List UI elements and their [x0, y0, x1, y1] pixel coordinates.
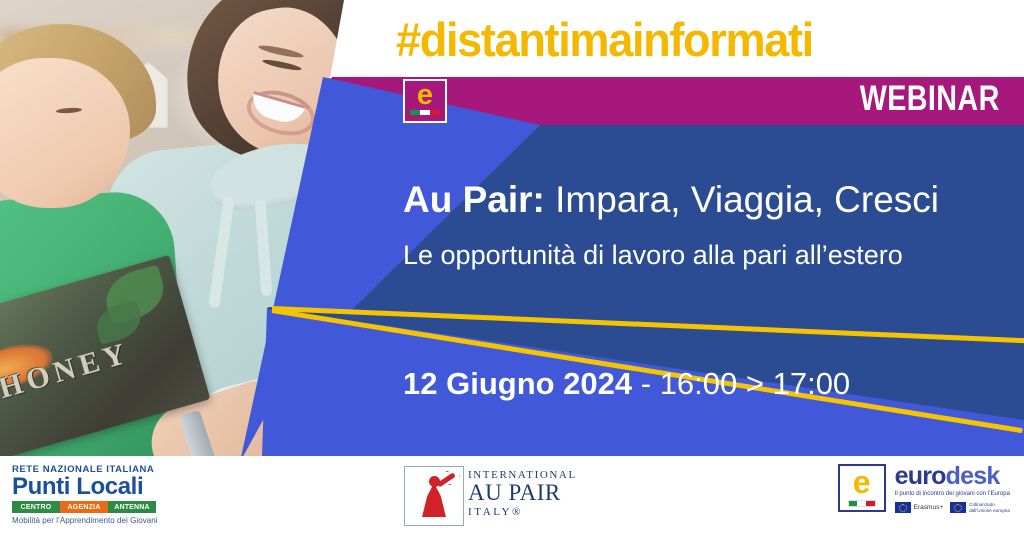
eurodesk-tagline: Il punto di incontro dei giovani con l’E…: [895, 491, 1010, 497]
eurodesk-footer-letter: e: [853, 469, 871, 496]
punti-locali-tagline: Mobilità per l’Apprendimento dei Giovani: [12, 516, 158, 525]
campaign-hashtag: #distantimainformati: [396, 16, 813, 63]
webinar-banner: HONEY #distantimainformati e WEBINAR Au …: [0, 0, 1024, 536]
flag-green-stripe: [410, 110, 420, 115]
au-pair-wordmark: INTERNATIONAL AU PAIR ITALY®: [468, 466, 577, 518]
eu-badges: Erasmus+ Cofinanziato dall’Unione europe…: [895, 502, 1010, 513]
punti-locali-logo: RETE NAZIONALE ITALIANA Punti Locali CEN…: [12, 464, 158, 525]
eurodesk-text-block: eurodesk Il punto di incontro dei giovan…: [895, 464, 1010, 513]
cofunded-badge-labels: Cofinanziato dall’Unione europea: [969, 502, 1010, 513]
event-title-rest: Impara, Viaggia, Cresci: [545, 179, 939, 220]
au-pair-nanny-icon: [404, 466, 464, 526]
webinar-label: WEBINAR: [860, 81, 1000, 116]
event-subtitle: Le opportunità di lavoro alla pari all’e…: [403, 240, 1023, 271]
flag-red-stripe-footer: [866, 501, 875, 506]
au-pair-line2: AU PAIR: [468, 481, 577, 506]
italian-flag-footer-icon: [848, 500, 876, 507]
eurodesk-word-euro: euro: [895, 462, 946, 490]
au-pair-line3: ITALY®: [468, 506, 577, 518]
cofunded-line2: dall’Unione europea: [969, 508, 1010, 514]
flag-green-stripe-footer: [849, 501, 858, 506]
international-au-pair-italy-logo: INTERNATIONAL AU PAIR ITALY®: [404, 466, 577, 526]
nanny-body-shape: [422, 483, 446, 517]
punti-locali-wordmark: Punti Locali: [12, 474, 158, 499]
erasmus-badge: Erasmus+: [895, 502, 943, 513]
cofunded-eu-badge: Cofinanziato dall’Unione europea: [950, 502, 1010, 513]
eurodesk-icon: e: [403, 79, 447, 123]
segment-antenna: ANTENNA: [108, 501, 156, 513]
eurodesk-word-desk: desk: [946, 462, 1000, 490]
flag-white-stripe-footer: [857, 501, 866, 506]
eurodesk-footer-icon: e: [838, 464, 886, 512]
event-title: Au Pair: Impara, Viaggia, Cresci: [403, 180, 1003, 219]
italian-flag-icon: [410, 110, 440, 115]
event-time: - 16:00 > 17:00: [632, 366, 850, 401]
erasmus-badge-label: Erasmus+: [914, 504, 943, 511]
event-date: 12 Giugno 2024: [403, 366, 632, 401]
punti-locali-segment-bar: CENTRO AGENZIA ANTENNA: [12, 501, 156, 513]
segment-agenzia: AGENZIA: [60, 501, 108, 513]
event-datetime: 12 Giugno 2024 - 16:00 > 17:00: [403, 366, 850, 402]
event-title-bold: Au Pair:: [403, 179, 545, 220]
eurodesk-footer-logo: e eurodesk Il punto di incontro dei giov…: [838, 464, 1010, 513]
eurodesk-icon-letter: e: [417, 82, 433, 110]
eu-flag-icon-2: [950, 502, 966, 513]
eu-flag-icon-1: [895, 502, 911, 513]
flag-red-stripe: [430, 110, 440, 115]
footer-logo-bar: RETE NAZIONALE ITALIANA Punti Locali CEN…: [0, 456, 1024, 536]
eurodesk-wordmark: eurodesk: [895, 464, 1010, 489]
flag-white-stripe: [420, 110, 430, 115]
segment-centro: CENTRO: [12, 501, 60, 513]
